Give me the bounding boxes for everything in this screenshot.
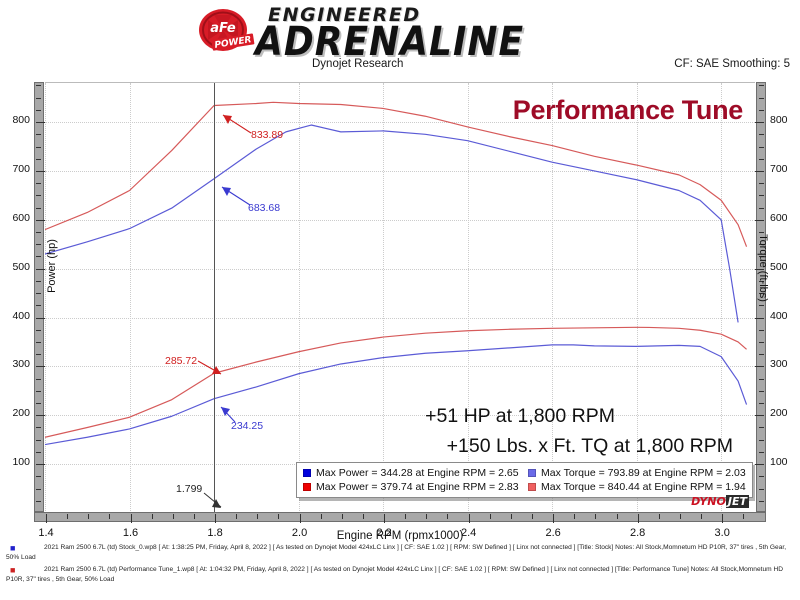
y2-axis-tick-label: 700 bbox=[770, 163, 800, 175]
point-label-torque-tuned: 833.89 bbox=[251, 129, 283, 141]
y-axis-tick bbox=[36, 415, 45, 416]
x-axis-tick bbox=[173, 514, 174, 519]
tq-gain-callout: +150 Lbs. x Ft. TQ at 1,800 RPM bbox=[447, 435, 733, 458]
y-axis-tick bbox=[36, 330, 41, 331]
legend-label: Max Power = 379.74 at Engine RPM = 2.83 bbox=[316, 481, 519, 493]
legend-swatch-icon bbox=[528, 483, 536, 491]
y-axis-tick bbox=[36, 171, 45, 172]
legend-row: Max Power = 379.74 at Engine RPM = 2.83 … bbox=[303, 480, 746, 494]
y2-axis-tick bbox=[759, 379, 764, 380]
legend-item-max-torque-stock: Max Torque = 793.89 at Engine RPM = 2.03 bbox=[528, 467, 746, 479]
legend-item-max-torque-tuned: Max Torque = 840.44 at Engine RPM = 1.94 bbox=[528, 481, 746, 493]
y-axis-tick-label: 200 bbox=[0, 407, 30, 419]
hp-gain-callout: +51 HP at 1,800 RPM bbox=[425, 405, 615, 428]
y-axis-tick-label: 600 bbox=[0, 212, 30, 224]
x-axis-tick bbox=[215, 514, 216, 523]
x-axis-tick bbox=[67, 514, 68, 519]
y2-axis-tick bbox=[759, 489, 764, 490]
y2-axis-tick bbox=[759, 391, 764, 392]
x-axis-tick bbox=[109, 514, 110, 519]
y2-axis-tick bbox=[759, 147, 764, 148]
y-axis-tick bbox=[36, 220, 45, 221]
legend-label: Max Torque = 793.89 at Engine RPM = 2.03 bbox=[541, 467, 746, 479]
x-axis-tick bbox=[701, 514, 702, 519]
x-axis-tick bbox=[638, 514, 639, 523]
y-axis-tick bbox=[36, 122, 45, 123]
x-axis-tick bbox=[553, 514, 554, 523]
legend-label: Max Torque = 840.44 at Engine RPM = 1.94 bbox=[541, 481, 746, 493]
y-axis-tick bbox=[36, 147, 41, 148]
y2-axis-tick bbox=[759, 98, 764, 99]
series-line-power-performance-tune bbox=[45, 327, 747, 437]
chart-legend[interactable]: Max Power = 344.28 at Engine RPM = 2.65 … bbox=[296, 462, 753, 498]
y2-axis-tick bbox=[759, 85, 764, 86]
x-axis-tick bbox=[46, 514, 47, 523]
y2-axis-tick bbox=[759, 354, 764, 355]
y-axis-tick bbox=[36, 293, 41, 294]
y-axis-tick bbox=[36, 464, 45, 465]
x-axis-bar: 1.41.61.82.02.22.42.62.83.0 bbox=[34, 512, 766, 522]
x-axis-tick bbox=[384, 514, 385, 523]
series-line-power-stock bbox=[45, 345, 747, 445]
y2-axis-tick-label: 100 bbox=[770, 456, 800, 468]
footnote-text: 2021 Ram 2500 6.7L (td) Performance Tune… bbox=[6, 565, 794, 584]
legend-swatch-icon bbox=[528, 469, 536, 477]
footnote-row-tune: ■ 2021 Ram 2500 6.7L (td) Performance Tu… bbox=[6, 565, 794, 584]
x-axis-tick bbox=[88, 514, 89, 519]
y2-axis-tick bbox=[759, 452, 764, 453]
x-axis-tick bbox=[490, 514, 491, 519]
x-axis-tick bbox=[131, 514, 132, 523]
x-axis-tick bbox=[194, 514, 195, 519]
y-axis-tick bbox=[36, 354, 41, 355]
dynojet-watermark-logo: DYNOJET bbox=[691, 495, 749, 508]
x-axis-tick bbox=[321, 514, 322, 519]
y-axis-tick bbox=[36, 195, 41, 196]
svg-text:aFe: aFe bbox=[210, 21, 236, 36]
y2-axis-tick bbox=[759, 440, 764, 441]
legend-row: Max Power = 344.28 at Engine RPM = 2.65 … bbox=[303, 466, 746, 480]
y-axis-right-title: Torque (ft-lbs) bbox=[757, 223, 769, 313]
dynojet-research-subtitle: Dynojet Research bbox=[312, 58, 403, 70]
x-axis-tick bbox=[405, 514, 406, 519]
y-axis-tick bbox=[36, 452, 41, 453]
x-axis-tick bbox=[152, 514, 153, 519]
y2-axis-tick bbox=[759, 159, 764, 160]
x-axis-tick bbox=[532, 514, 533, 519]
y2-axis-tick bbox=[755, 464, 764, 465]
point-label-power-tuned: 285.72 bbox=[165, 355, 197, 367]
y2-axis-tick bbox=[759, 501, 764, 502]
y-axis-tick bbox=[36, 379, 41, 380]
x-axis-tick bbox=[363, 514, 364, 519]
x-axis-tick bbox=[574, 514, 575, 519]
y-axis-tick bbox=[36, 110, 41, 111]
x-axis-tick bbox=[278, 514, 279, 519]
y2-axis-tick-label: 800 bbox=[770, 114, 800, 126]
point-label-torque-stock: 683.68 bbox=[248, 202, 280, 214]
y-axis-tick-label: 100 bbox=[0, 456, 30, 468]
x-axis-tick bbox=[342, 514, 343, 519]
watermark-dyno: DYNO bbox=[691, 495, 726, 508]
x-axis-tick bbox=[659, 514, 660, 519]
x-axis-tick bbox=[722, 514, 723, 523]
page-header: aFe POWER ENGINEERED ADRENALINE Dynojet … bbox=[0, 0, 800, 78]
y2-axis-tick bbox=[759, 134, 764, 135]
y2-axis-tick bbox=[759, 183, 764, 184]
legend-swatch-icon bbox=[303, 469, 311, 477]
y2-axis-tick bbox=[759, 330, 764, 331]
y-axis-tick bbox=[36, 269, 45, 270]
y2-axis-tick bbox=[759, 342, 764, 343]
y-axis-tick-label: 800 bbox=[0, 114, 30, 126]
watermark-jet: JET bbox=[726, 495, 749, 508]
y-axis-tick bbox=[36, 134, 41, 135]
dyno-chart-page: aFe POWER ENGINEERED ADRENALINE Dynojet … bbox=[0, 0, 800, 600]
y-axis-tick bbox=[36, 232, 41, 233]
x-axis-tick bbox=[680, 514, 681, 519]
y2-axis-tick bbox=[759, 195, 764, 196]
legend-swatch-icon bbox=[303, 483, 311, 491]
footnote-text: 2021 Ram 2500 6.7L (td) Stock_0.wp8 [ At… bbox=[6, 543, 794, 562]
footnote-row-stock: ■ 2021 Ram 2500 6.7L (td) Stock_0.wp8 [ … bbox=[6, 543, 794, 562]
y-axis-tick bbox=[36, 98, 41, 99]
y-axis-tick bbox=[36, 403, 41, 404]
x-axis-tick bbox=[743, 514, 744, 519]
x-axis-tick bbox=[447, 514, 448, 519]
y2-axis-tick bbox=[759, 110, 764, 111]
y-axis-tick-label: 400 bbox=[0, 310, 30, 322]
cursor-rpm-label: 1.799 bbox=[176, 483, 202, 495]
y-axis-tick bbox=[36, 305, 41, 306]
cf-smoothing-label: CF: SAE Smoothing: 5 bbox=[674, 58, 790, 70]
legend-item-max-power-stock: Max Power = 344.28 at Engine RPM = 2.65 bbox=[303, 467, 528, 479]
y2-axis-tick-label: 200 bbox=[770, 407, 800, 419]
footnote-bullet-icon: ■ bbox=[10, 544, 15, 553]
chart-area: 1.41.61.82.02.22.42.62.83.0 Performance … bbox=[34, 82, 766, 512]
y2-axis-tick-label: 300 bbox=[770, 358, 800, 370]
y2-axis-tick bbox=[759, 427, 764, 428]
y-axis-tick bbox=[36, 318, 45, 319]
chart-title: Performance Tune bbox=[513, 95, 743, 126]
footnotes: ■ 2021 Ram 2500 6.7L (td) Stock_0.wp8 [ … bbox=[0, 543, 800, 587]
y2-axis-tick bbox=[755, 171, 764, 172]
y-axis-tick bbox=[36, 427, 41, 428]
y-axis-tick bbox=[36, 489, 41, 490]
y-axis-tick bbox=[36, 476, 41, 477]
y2-axis-tick bbox=[755, 220, 764, 221]
y-axis-tick-label: 700 bbox=[0, 163, 30, 175]
x-axis-tick bbox=[617, 514, 618, 519]
y-axis-tick bbox=[36, 342, 41, 343]
cursor-line[interactable] bbox=[214, 83, 215, 512]
legend-label: Max Power = 344.28 at Engine RPM = 2.65 bbox=[316, 467, 519, 479]
y2-axis-tick-label: 400 bbox=[770, 310, 800, 322]
x-axis-tick bbox=[511, 514, 512, 519]
y-axis-tick bbox=[36, 85, 41, 86]
y-axis-tick-label: 300 bbox=[0, 358, 30, 370]
y-axis-tick bbox=[36, 366, 45, 367]
x-axis-tick bbox=[426, 514, 427, 519]
y-axis-tick-label: 500 bbox=[0, 261, 30, 273]
y2-axis-tick bbox=[759, 403, 764, 404]
y2-axis-tick-label: 600 bbox=[770, 212, 800, 224]
y-axis-tick bbox=[36, 159, 41, 160]
y-axis-tick bbox=[36, 244, 41, 245]
plot-canvas: Performance Tune +51 HP at 1,800 RPM +15… bbox=[45, 82, 755, 512]
y-axis-tick bbox=[36, 281, 41, 282]
y2-axis-tick bbox=[755, 122, 764, 123]
afe-power-logo-icon: aFe POWER bbox=[196, 8, 258, 54]
y-axis-tick bbox=[36, 501, 41, 502]
y-axis-left-bar bbox=[34, 82, 44, 512]
legend-item-max-power-tuned: Max Power = 379.74 at Engine RPM = 2.83 bbox=[303, 481, 528, 493]
y2-axis-tick bbox=[755, 415, 764, 416]
y-axis-tick bbox=[36, 391, 41, 392]
point-label-power-stock: 234.25 bbox=[231, 420, 263, 432]
x-axis-tick bbox=[595, 514, 596, 519]
y2-axis-tick bbox=[755, 318, 764, 319]
x-axis-tick bbox=[300, 514, 301, 523]
y2-axis-tick-label: 500 bbox=[770, 261, 800, 273]
y2-axis-tick bbox=[755, 366, 764, 367]
footnote-bullet-icon: ■ bbox=[10, 566, 15, 575]
y-axis-tick bbox=[36, 440, 41, 441]
y-axis-tick bbox=[36, 256, 41, 257]
x-axis-tick bbox=[236, 514, 237, 519]
y2-axis-tick bbox=[759, 476, 764, 477]
brand-wordmark: ENGINEERED ADRENALINE bbox=[255, 4, 655, 58]
x-axis-tick bbox=[257, 514, 258, 519]
x-axis-title: Engine RPM (rpmx1000) bbox=[0, 530, 800, 542]
y-axis-left-title: Power (hp) bbox=[46, 226, 58, 306]
y2-axis-tick bbox=[759, 208, 764, 209]
x-axis-tick bbox=[469, 514, 470, 523]
y-axis-tick bbox=[36, 208, 41, 209]
y-axis-tick bbox=[36, 183, 41, 184]
series-line-torque-stock bbox=[45, 125, 738, 322]
